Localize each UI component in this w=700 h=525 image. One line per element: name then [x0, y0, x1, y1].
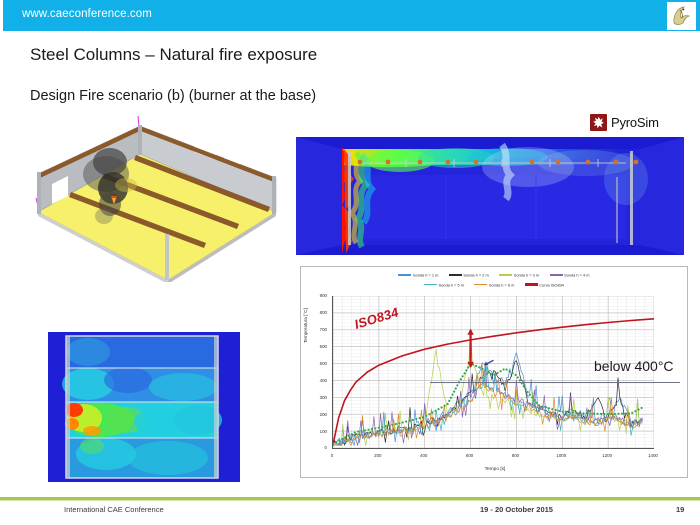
chart-y-axis-label: Temperatura [°C] — [303, 308, 308, 343]
legend-item-sonda-6m: Sonda h = 6 m — [474, 280, 514, 289]
footer-page-number: 19 — [676, 505, 684, 514]
chart-x-tick-label: 1200 — [597, 453, 617, 458]
header-website-url[interactable]: www.caeconference.com — [22, 8, 152, 20]
below-400-leader-line — [430, 382, 680, 383]
legend-row-2: Sonda h = 5 m Sonda h = 6 m Curva ISO834 — [301, 280, 687, 290]
chart-x-axis-label: Tempo [s] — [301, 467, 688, 472]
3d-room-model-figure — [18, 112, 293, 282]
conference-bird-logo-icon — [667, 2, 696, 30]
pyrosim-plan-temperature-slice — [48, 332, 240, 482]
chart-x-tick-label: 600 — [460, 453, 480, 458]
chart-y-tick-label: 200 — [309, 412, 327, 417]
legend-swatch — [550, 274, 563, 276]
header-left-edge — [0, 0, 3, 31]
chart-x-tick-label: 800 — [505, 453, 525, 458]
below-400-annotation: below 400°C — [594, 358, 674, 374]
page-title: Steel Columns – Natural fire exposure — [30, 45, 317, 65]
legend-item-sonda-1m: Sonda h = 1 m — [398, 270, 438, 279]
chart-y-tick-label: 500 — [309, 361, 327, 366]
legend-item-sonda-4m: Sonda h = 4 m — [550, 270, 590, 279]
chart-y-tick-label: 800 — [309, 310, 327, 315]
pyrosim-section-temperature-slice — [296, 137, 684, 255]
legend-swatch — [449, 274, 462, 276]
chart-x-tick-label: 0 — [322, 453, 342, 458]
footer-date: 19 - 20 October 2015 — [480, 505, 553, 514]
chart-x-tick-label: 400 — [414, 453, 434, 458]
legend-swatch — [474, 284, 487, 286]
chart-x-tick-label: 1000 — [551, 453, 571, 458]
chart-x-tick-label: 200 — [368, 453, 388, 458]
chart-y-tick-label: 700 — [309, 327, 327, 332]
legend-item-curva-iso834: Curva ISO834 — [525, 280, 564, 289]
legend-swatch — [398, 274, 411, 276]
chart-y-tick-label: 400 — [309, 378, 327, 383]
flame-icon — [590, 114, 607, 131]
chart-x-tick-label: 1400 — [643, 453, 663, 458]
legend-swatch — [499, 274, 512, 276]
legend-row-1: Sonda h = 1 m Sonda h = 2 m Sonda h = 3 … — [301, 270, 687, 280]
chart-y-tick-label: 600 — [309, 344, 327, 349]
chart-plot-wrap: Temperatura [°C] Tempo [s] 0100200300400… — [301, 291, 688, 478]
chart-legend: Sonda h = 1 m Sonda h = 2 m Sonda h = 3 … — [301, 270, 687, 289]
pyrosim-label: PyroSim — [611, 115, 659, 130]
page-subtitle: Design Fire scenario (b) (burner at the … — [30, 88, 316, 104]
chart-y-tick-label: 900 — [309, 293, 327, 298]
pyrosim-logo: PyroSim — [590, 112, 688, 133]
legend-swatch — [424, 284, 437, 286]
legend-swatch — [525, 283, 538, 285]
chart-y-tick-label: 300 — [309, 395, 327, 400]
legend-item-sonda-5m: Sonda h = 5 m — [424, 280, 464, 289]
footer-divider-light — [0, 500, 700, 501]
footer-conference-name: International CAE Conference — [64, 505, 164, 514]
chart-y-tick-label: 100 — [309, 429, 327, 434]
slide: www.caeconference.com Steel Columns – Na… — [0, 0, 700, 525]
chart-y-tick-label: 0 — [309, 445, 327, 450]
